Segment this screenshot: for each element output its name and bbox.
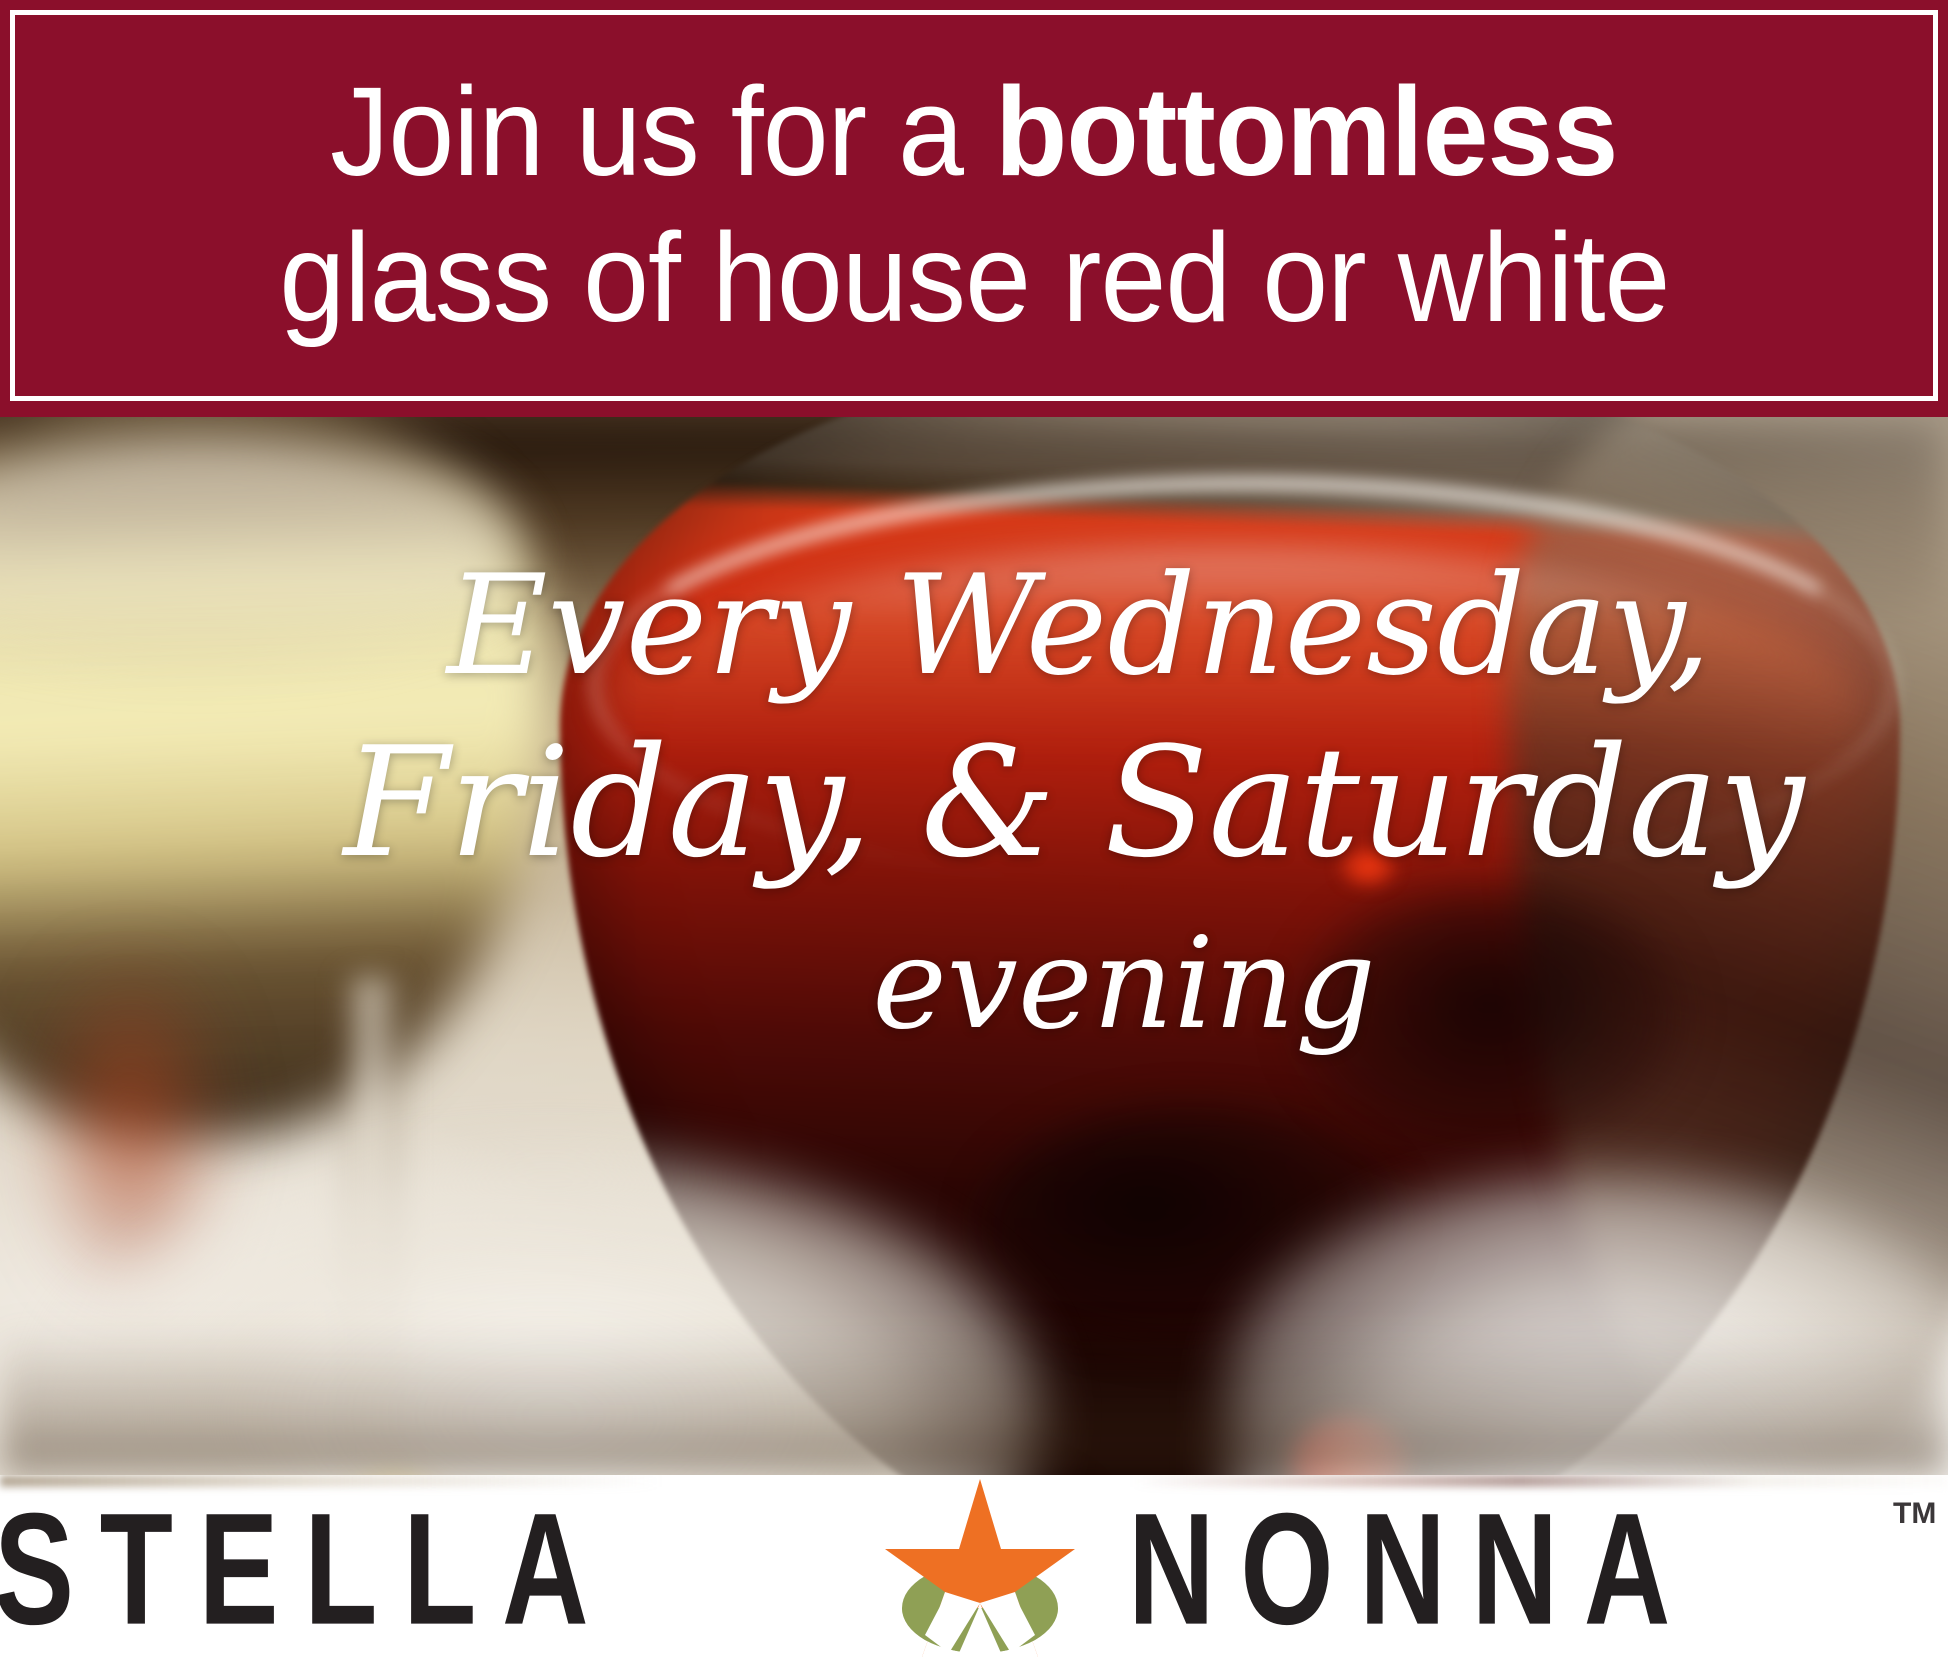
trademark-symbol: TM [1893,1497,1936,1531]
logo-word-nonna: NONNA [1128,1489,1696,1648]
logo-bar: STELLA NONNA [0,1475,1948,1660]
headline-block: Join us for a bottomless glass of house … [30,20,1918,390]
bokeh-highlight-warm [56,977,206,1277]
header-band: Join us for a bottomless glass of house … [0,0,1948,417]
wine-red-glow-upper [1340,847,1396,887]
star-icon [845,1477,1115,1657]
wine-dark-region-b [1300,887,1680,1147]
promotion-flyer: Join us for a bottomless glass of house … [0,0,1948,1660]
headline-line-1: Join us for a bottomless [330,59,1617,205]
headline-line-1-bold: bottomless [995,61,1617,202]
headline-line-2: glass of house red or white [279,205,1669,351]
headline-line-1-prefix: Join us for a [330,61,995,202]
brand-logo: STELLA NONNA [0,1475,1948,1660]
logo-word-stella: STELLA [0,1489,614,1648]
red-wine-glass-rim-highlight [590,477,1898,890]
photo-bottom-shadow [0,1325,1948,1475]
wine-photo: Every Wednesday, Friday, & Saturday even… [0,417,1948,1475]
